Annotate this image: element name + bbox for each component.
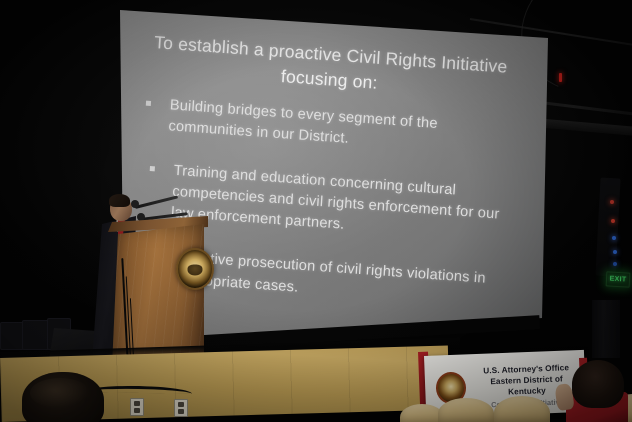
microphone-icon bbox=[131, 200, 139, 208]
doj-seal-icon bbox=[176, 248, 214, 290]
rack-status-led bbox=[612, 236, 616, 240]
rack-status-led bbox=[611, 219, 615, 223]
audience-chair bbox=[494, 396, 550, 422]
audience-member-foreground bbox=[22, 372, 104, 422]
square-bullet-icon bbox=[150, 166, 155, 171]
presentation-photo: To establish a proactive Civil Rights In… bbox=[0, 0, 632, 422]
slide-bullet-text: Training and education concerning cultur… bbox=[171, 163, 500, 233]
eagle-icon bbox=[188, 264, 203, 275]
audience-member-right bbox=[572, 360, 624, 408]
exit-door bbox=[592, 300, 620, 358]
power-outlet-icon bbox=[130, 398, 144, 416]
slide-bullet-item: Building bridges to every segment of the… bbox=[132, 92, 523, 161]
exit-sign: EXIT bbox=[606, 271, 631, 287]
exit-sign-label: EXIT bbox=[609, 276, 626, 284]
rack-status-led bbox=[613, 262, 617, 266]
stage-chair bbox=[22, 320, 50, 350]
microphone-icon bbox=[137, 213, 145, 221]
rack-status-led bbox=[613, 250, 617, 254]
audience-chair bbox=[438, 398, 494, 422]
ceiling-indicator-light bbox=[559, 73, 562, 82]
rack-status-led bbox=[610, 200, 614, 204]
speaker-hair bbox=[109, 194, 130, 207]
slide-bullet-text: Effective prosecution of civil rights vi… bbox=[174, 250, 486, 296]
slide-bullet-text: Building bridges to every segment of the… bbox=[168, 97, 438, 147]
square-bullet-icon bbox=[146, 100, 151, 105]
power-outlet-icon bbox=[174, 399, 188, 417]
